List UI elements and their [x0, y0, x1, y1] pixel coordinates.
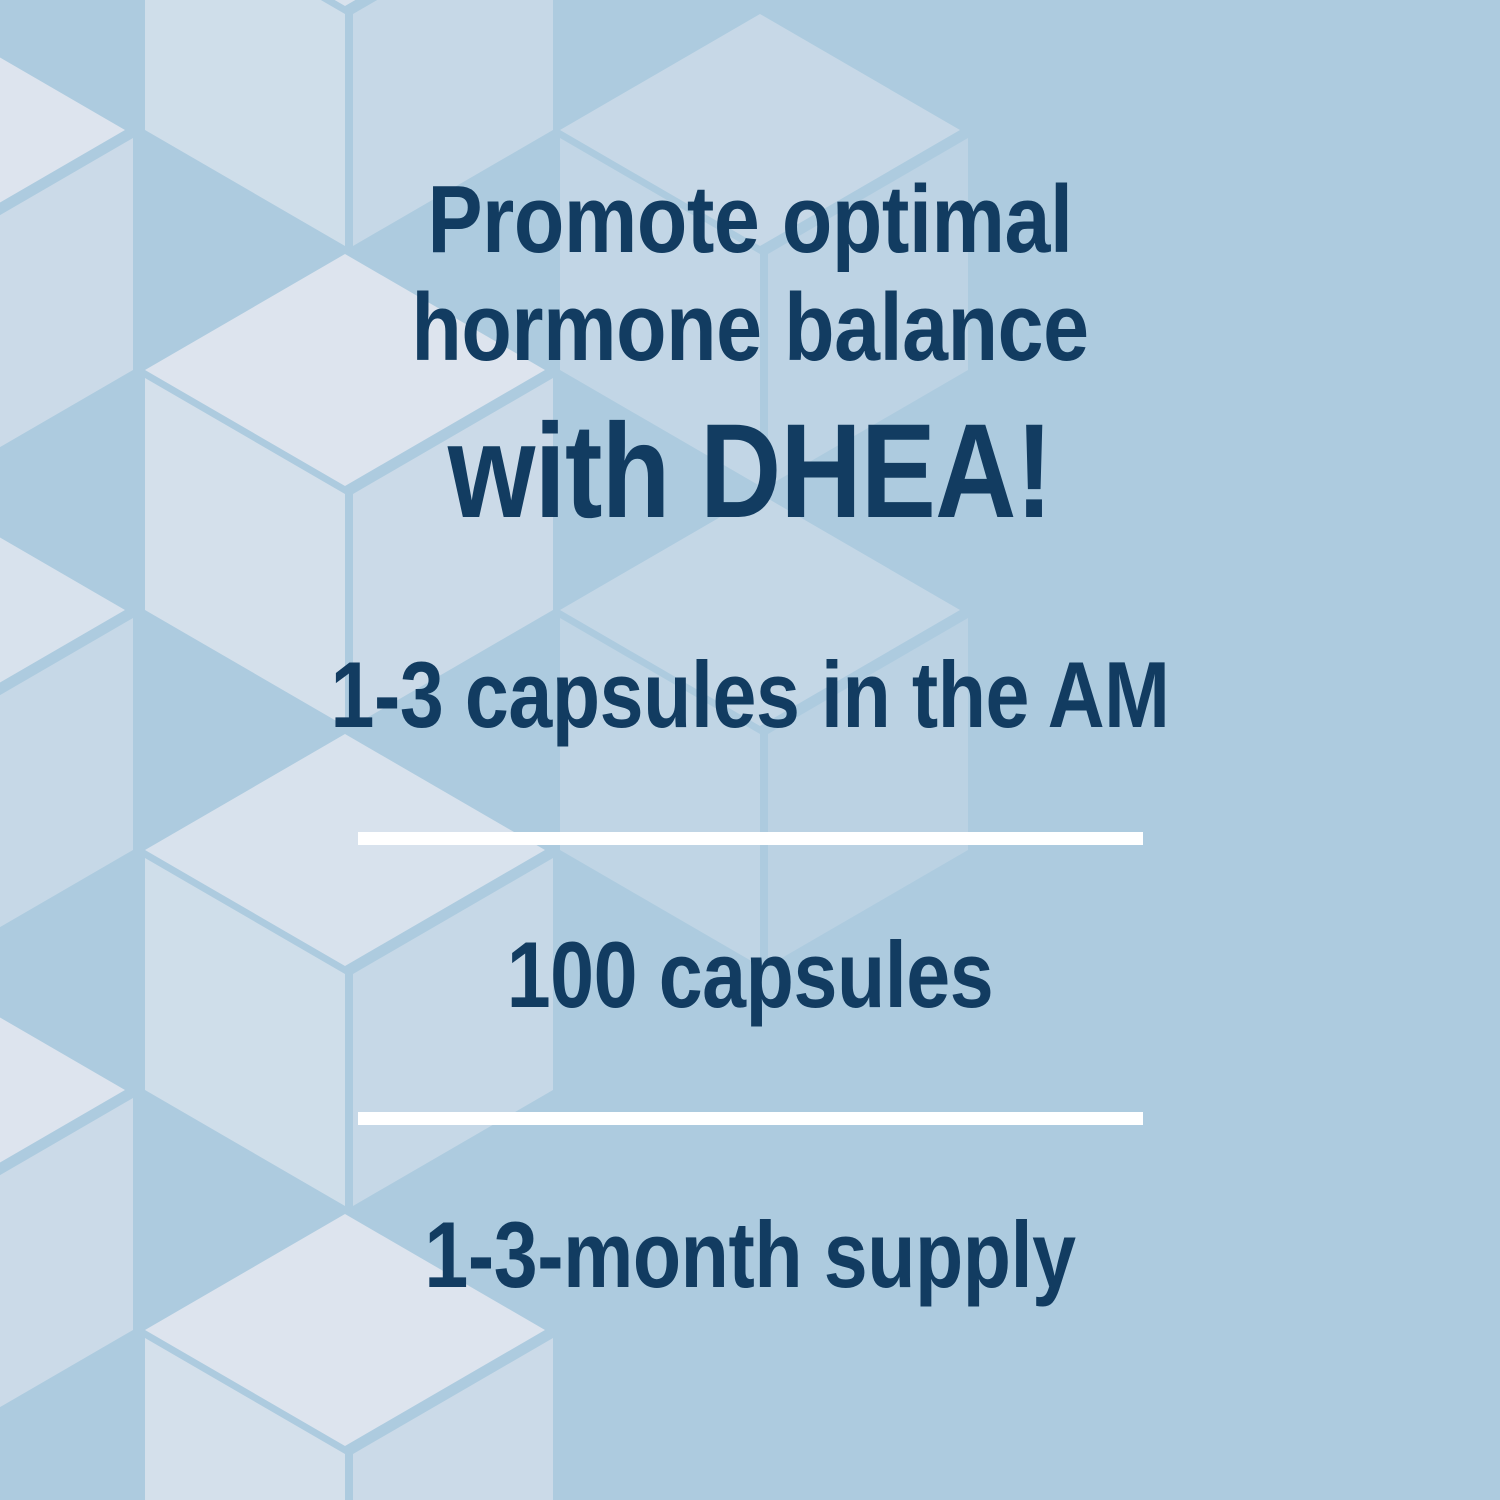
- headline-line-3-emphasis: with DHEA!: [120, 405, 1380, 539]
- headline-line-2: hormone balance: [105, 280, 1395, 376]
- fact-supply-duration: 1-3-month supply: [120, 1208, 1380, 1302]
- text-content: Promote optimal hormone balance with DHE…: [0, 0, 1500, 1500]
- divider-rule-top: [358, 832, 1143, 845]
- fact-capsule-count: 100 capsules: [120, 928, 1380, 1022]
- divider-rule-bottom: [358, 1112, 1143, 1125]
- marketing-graphic: Promote optimal hormone balance with DHE…: [0, 0, 1500, 1500]
- headline-line-1: Promote optimal: [105, 172, 1395, 268]
- fact-dosage: 1-3 capsules in the AM: [120, 648, 1380, 742]
